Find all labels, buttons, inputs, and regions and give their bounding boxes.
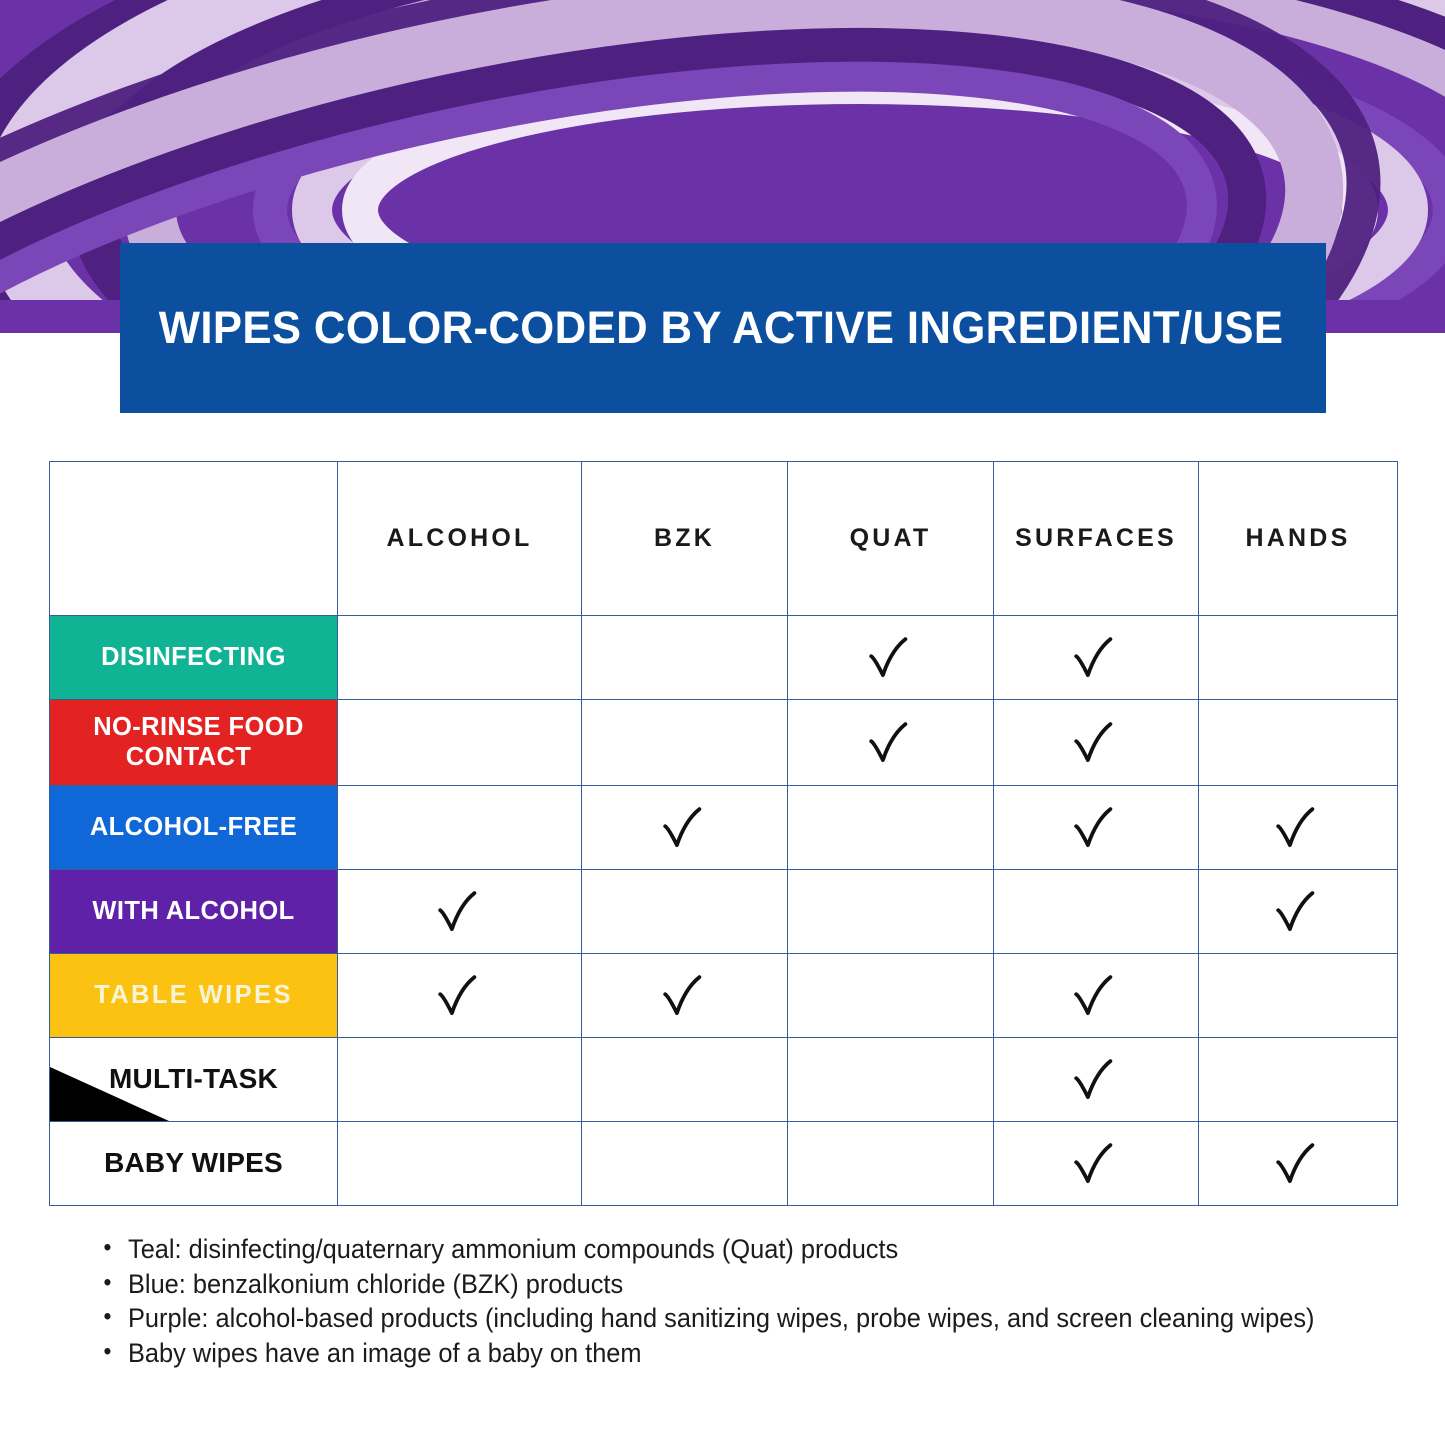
checkmark-icon (1271, 1137, 1325, 1191)
cell-quat (788, 1038, 994, 1122)
checkmark-icon (658, 969, 712, 1023)
cell-alcohol (338, 1038, 582, 1122)
checkmark-icon (1069, 631, 1123, 685)
row-label-no-rinse-food-contact: NO-RINSE FOOD CONTACT (50, 700, 338, 786)
cell-surfaces (994, 870, 1199, 954)
checkmark-icon (433, 969, 487, 1023)
table-row: TABLE WIPES (50, 954, 1398, 1038)
page-title-banner: WIPES COLOR-CODED BY ACTIVE INGREDIENT/U… (120, 243, 1326, 413)
row-label-text: MULTI-TASK (99, 1061, 288, 1096)
legend-notes-list: Teal: disinfecting/quaternary ammonium c… (96, 1232, 1386, 1370)
cell-bzk (582, 616, 788, 700)
cell-surfaces (994, 1038, 1199, 1122)
table-header-row: ALCOHOL BZK QUAT SURFACES HANDS (50, 462, 1398, 616)
cell-surfaces (994, 954, 1199, 1038)
cell-quat (788, 954, 994, 1038)
row-label-text: WITH ALCOHOL (82, 895, 304, 927)
table-row: MULTI-TASK (50, 1038, 1398, 1122)
cell-hands (1199, 1122, 1398, 1206)
cell-bzk (582, 700, 788, 786)
row-label-with-alcohol: WITH ALCOHOL (50, 870, 338, 954)
row-label-table-wipes: TABLE WIPES (50, 954, 338, 1038)
cell-surfaces (994, 1122, 1199, 1206)
cell-bzk (582, 870, 788, 954)
cell-hands (1199, 616, 1398, 700)
row-label-alcohol-free: ALCOHOL-FREE (50, 786, 338, 870)
row-label-text: ALCOHOL-FREE (80, 811, 307, 843)
column-header-quat: QUAT (788, 462, 994, 616)
cell-alcohol (338, 954, 582, 1038)
table-corner-cell (50, 462, 338, 616)
checkmark-icon (1069, 1053, 1123, 1107)
column-header-bzk: BZK (582, 462, 788, 616)
table-row: ALCOHOL-FREE (50, 786, 1398, 870)
column-header-label: ALCOHOL (338, 524, 581, 553)
checkmark-icon (1069, 716, 1123, 770)
checkmark-icon (1069, 1137, 1123, 1191)
cell-surfaces (994, 700, 1199, 786)
row-label-text: BABY WIPES (94, 1145, 293, 1180)
table-body: DISINFECTINGNO-RINSE FOOD CONTACTALCOHOL… (50, 616, 1398, 1206)
cell-quat (788, 616, 994, 700)
cell-alcohol (338, 616, 582, 700)
cell-quat (788, 870, 994, 954)
legend-note-item: Baby wipes have an image of a baby on th… (128, 1336, 1311, 1371)
cell-hands (1199, 786, 1398, 870)
legend-note-item: Teal: disinfecting/quaternary ammonium c… (128, 1232, 1311, 1267)
legend-note-item: Blue: benzalkonium chloride (BZK) produc… (128, 1267, 1311, 1302)
table-row: NO-RINSE FOOD CONTACT (50, 700, 1398, 786)
row-label-text: NO-RINSE FOOD CONTACT (83, 711, 304, 773)
table-header: ALCOHOL BZK QUAT SURFACES HANDS (50, 462, 1398, 616)
wipes-matrix-table: ALCOHOL BZK QUAT SURFACES HANDS DISINFEC… (49, 461, 1398, 1206)
row-label-text: TABLE WIPES (84, 979, 303, 1011)
cell-quat (788, 786, 994, 870)
cell-quat (788, 1122, 994, 1206)
row-label-multi-task: MULTI-TASK (50, 1038, 338, 1122)
legend-note-item: Purple: alcohol-based products (includin… (128, 1301, 1311, 1336)
cell-surfaces (994, 786, 1199, 870)
row-label-text: DISINFECTING (91, 641, 296, 673)
checkmark-icon (658, 801, 712, 855)
checkmark-icon (1069, 969, 1123, 1023)
column-header-surfaces: SURFACES (994, 462, 1199, 616)
table-row: BABY WIPES (50, 1122, 1398, 1206)
checkmark-icon (1271, 885, 1325, 939)
cell-bzk (582, 1038, 788, 1122)
column-header-hands: HANDS (1199, 462, 1398, 616)
cell-bzk (582, 786, 788, 870)
cell-alcohol (338, 870, 582, 954)
checkmark-icon (433, 885, 487, 939)
column-header-label: SURFACES (994, 524, 1198, 553)
cell-alcohol (338, 786, 582, 870)
column-header-label: QUAT (788, 524, 993, 553)
row-label-baby-wipes: BABY WIPES (50, 1122, 338, 1206)
row-label-disinfecting: DISINFECTING (50, 616, 338, 700)
cell-alcohol (338, 700, 582, 786)
column-header-label: HANDS (1199, 524, 1397, 553)
checkmark-icon (1069, 801, 1123, 855)
checkmark-icon (864, 631, 918, 685)
cell-hands (1199, 700, 1398, 786)
page-title: WIPES COLOR-CODED BY ACTIVE INGREDIENT/U… (120, 302, 1283, 354)
cell-bzk (582, 1122, 788, 1206)
cell-hands (1199, 954, 1398, 1038)
cell-quat (788, 700, 994, 786)
cell-hands (1199, 1038, 1398, 1122)
checkmark-icon (1271, 801, 1325, 855)
column-header-alcohol: ALCOHOL (338, 462, 582, 616)
cell-alcohol (338, 1122, 582, 1206)
table-row: WITH ALCOHOL (50, 870, 1398, 954)
checkmark-icon (864, 716, 918, 770)
table-row: DISINFECTING (50, 616, 1398, 700)
cell-hands (1199, 870, 1398, 954)
cell-surfaces (994, 616, 1199, 700)
cell-bzk (582, 954, 788, 1038)
column-header-label: BZK (582, 524, 787, 553)
